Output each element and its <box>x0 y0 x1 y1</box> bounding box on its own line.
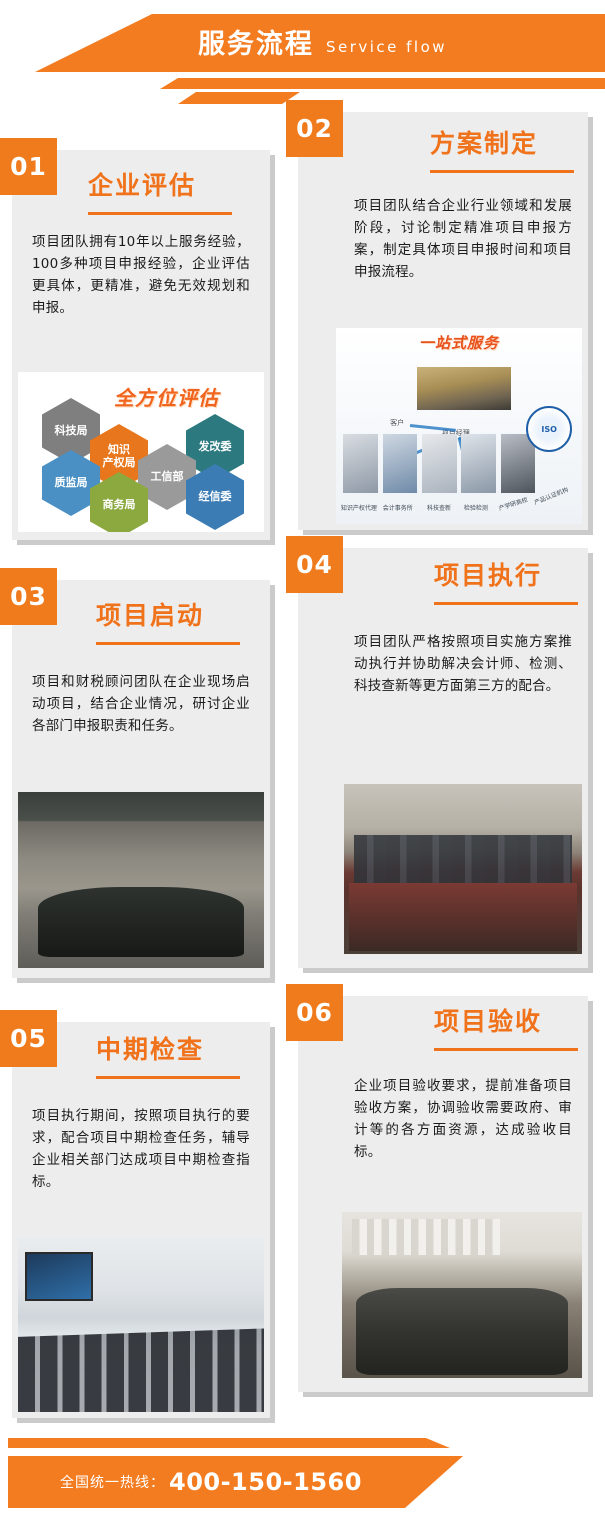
card-04-media <box>344 784 582 954</box>
oss-foot-4: 产学研高校 <box>498 495 529 513</box>
card-03-rule <box>96 642 240 645</box>
card-01-rule <box>88 212 232 215</box>
card-03[interactable]: 03 项目启动 项目和财税顾问团队在企业现场启动项目，结合企业情况，研讨企业各部… <box>12 580 270 978</box>
card-06[interactable]: 06 项目验收 企业项目验收要求，提前准备项目验收方案，协调验收需要政府、审计等… <box>298 996 588 1392</box>
card-01-media: 全方位评估 科技局 知识 产权局 发改委 质监局 工信部 商务局 经信委 <box>18 372 264 532</box>
hex-diagram: 全方位评估 科技局 知识 产权局 发改委 质监局 工信部 商务局 经信委 <box>18 372 264 532</box>
hotline-label: 全国统一热线： <box>60 1472 165 1492</box>
hex-node-6-label: 经信委 <box>199 491 232 504</box>
hex-node-0-label: 科技局 <box>55 425 88 438</box>
oss-foot-0: 知识产权代理 <box>341 503 377 512</box>
card-04[interactable]: 04 项目执行 项目团队严格按照项目实施方案推动执行并协助解决会计师、检测、科技… <box>298 548 588 968</box>
card-06-badge: 06 <box>286 984 343 1041</box>
card-05-rule <box>96 1076 240 1079</box>
hex-node-3-label: 质监局 <box>55 477 88 490</box>
hex-diagram-title: 全方位评估 <box>114 382 219 411</box>
hex-node-1-label: 知识 产权局 <box>103 444 136 469</box>
one-stop-service-title: 一站式服务 <box>336 332 582 353</box>
card-06-title: 项目验收 <box>434 1008 542 1036</box>
hotline-number[interactable]: 400-150-1560 <box>169 1468 362 1496</box>
oss-thumb-0 <box>343 434 377 493</box>
oss-label-client: 客户 <box>390 418 404 428</box>
oss-foot-1: 会计事务所 <box>383 503 413 512</box>
footer-stripe-shape <box>8 1438 605 1448</box>
card-04-title: 项目执行 <box>434 562 542 590</box>
one-stop-service-diagram: 一站式服务 客户 项目经理 ISO 知识产权代理 会计事务所 科技查新 检验检测 <box>336 328 582 524</box>
card-06-description: 企业项目验收要求，提前准备项目验收方案，协调验收需要政府、审计等的各方面资源，达… <box>354 1076 572 1163</box>
photo-boardroom <box>342 1212 582 1378</box>
photo-meeting-room <box>18 792 264 968</box>
card-05-description: 项目执行期间，按照项目执行的要求，配合项目中期检查任务，辅导企业相关部门达成项目… <box>32 1106 250 1193</box>
card-03-title: 项目启动 <box>96 602 204 630</box>
infographic-page: 服务流程 Service flow 01 企业评估 项目团队拥有10年以上服务经… <box>0 0 605 1538</box>
card-06-media <box>342 1212 582 1378</box>
oss-foot-3: 检验检测 <box>464 503 488 512</box>
card-02-description: 项目团队结合企业行业领域和发展阶段，讨论制定精准项目申报方案，制定具体项目申报时… <box>354 196 572 283</box>
page-footer: 全国统一热线： 400-150-1560 <box>0 1430 605 1538</box>
card-03-badge: 03 <box>0 568 57 625</box>
oss-foot-2: 科技查新 <box>427 503 451 512</box>
card-04-badge: 04 <box>286 536 343 593</box>
page-subtitle: Service flow <box>326 40 447 55</box>
card-01-title: 企业评估 <box>88 172 196 200</box>
oss-foot-5: 产品认证机构 <box>532 485 569 507</box>
card-02-title: 方案制定 <box>430 130 538 158</box>
card-01[interactable]: 01 企业评估 项目团队拥有10年以上服务经验，100多种项目申报经验，企业评估… <box>12 150 270 540</box>
card-05-badge: 05 <box>0 1010 57 1067</box>
card-01-description: 项目团队拥有10年以上服务经验，100多种项目申报经验，企业评估更具体，更精准，… <box>32 232 250 319</box>
card-05[interactable]: 05 中期检查 项目执行期间，按照项目执行的要求，配合项目中期检查任务，辅导企业… <box>12 1022 270 1418</box>
card-01-badge: 01 <box>0 138 57 195</box>
card-06-rule <box>434 1048 578 1051</box>
card-05-media <box>18 1238 264 1412</box>
one-stop-service-hero-photo <box>417 367 510 410</box>
page-header: 服务流程 Service flow <box>0 0 605 100</box>
footer-hotline-group: 全国统一热线： 400-150-1560 <box>8 1456 468 1508</box>
card-02-media: 一站式服务 客户 项目经理 ISO 知识产权代理 会计事务所 科技查新 检验检测 <box>336 328 582 524</box>
oss-thumb-1 <box>383 434 417 493</box>
page-title: 服务流程 <box>198 31 314 58</box>
card-02-badge: 02 <box>286 100 343 157</box>
card-03-media <box>18 792 264 968</box>
hex-node-4-label: 工信部 <box>151 471 184 484</box>
card-02-rule <box>430 170 574 173</box>
photo-showroom-tour <box>18 1238 264 1412</box>
hex-node-2-label: 发改委 <box>199 441 232 454</box>
header-stripe-shape <box>0 78 605 89</box>
oss-arrow-1 <box>410 424 456 432</box>
oss-thumb-3 <box>461 434 495 493</box>
card-05-title: 中期检查 <box>96 1036 204 1064</box>
card-04-description: 项目团队严格按照项目实施方案推动执行并协助解决会计师、检测、科技查新等更方面第三… <box>354 632 572 698</box>
header-title-group: 服务流程 Service flow <box>0 18 605 70</box>
hex-node-5-label: 商务局 <box>103 499 136 512</box>
card-04-rule <box>434 602 578 605</box>
oss-thumb-2 <box>422 434 456 493</box>
card-02[interactable]: 02 方案制定 项目团队结合企业行业领域和发展阶段，讨论制定精准项目申报方案，制… <box>298 112 588 530</box>
photo-working-session <box>344 784 582 954</box>
card-03-description: 项目和财税顾问团队在企业现场启动项目，结合企业情况，研讨企业各部门申报职责和任务… <box>32 672 250 738</box>
iso-seal-icon: ISO <box>526 406 572 452</box>
